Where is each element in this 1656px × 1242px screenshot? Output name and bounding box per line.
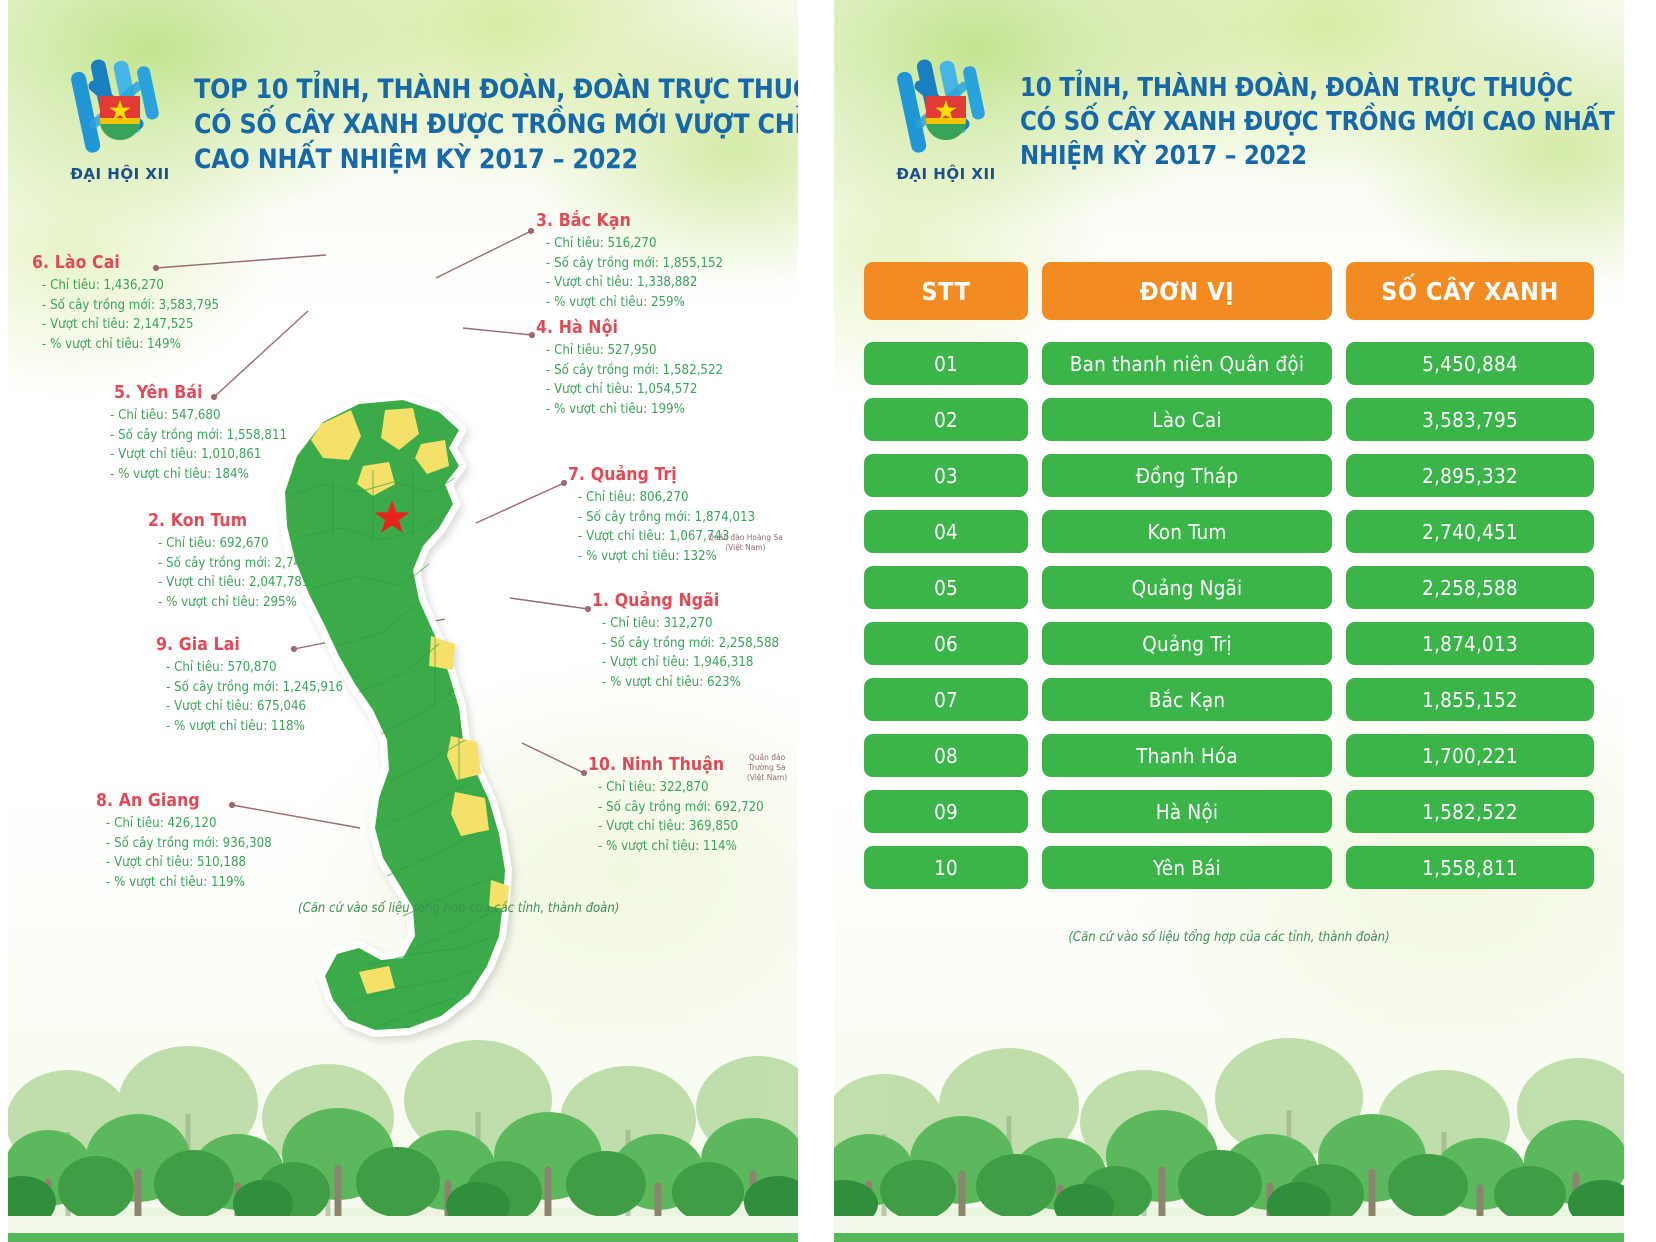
callout-title: 6. Lào Cai [32,253,219,273]
callout-ha-noi[interactable]: 4. Hà Nội - Chỉ tiêu: 527,950 - Số cây t… [536,318,723,419]
callout-exceed: - Vượt chỉ tiêu: 2,047,781 [158,573,335,593]
callout-planted: - Số cây trồng mới: 1,855,152 [546,254,723,274]
callout-target: - Chỉ tiêu: 570,870 [166,658,343,678]
row-trees: 2,895,332 [1346,454,1594,497]
right-title: 10 TỈNH, THÀNH ĐOÀN, ĐOÀN TRỰC THUỘC CÓ … [1020,52,1615,174]
congress-logo-icon [60,52,180,164]
row-unit: Lào Cai [1042,398,1332,441]
callout-exceed: - Vượt chỉ tiêu: 1,054,572 [546,380,723,400]
table-header-stt: STT [864,262,1028,320]
row-stt: 10 [864,846,1028,889]
row-unit: Kon Tum [1042,510,1332,553]
row-unit: Đồng Tháp [1042,454,1332,497]
forest-illustration-right [834,972,1624,1242]
callout-target: - Chỉ tiêu: 312,270 [602,614,779,634]
callout-bac-kan[interactable]: 3. Bắc Kạn - Chỉ tiêu: 516,270 - Số cây … [536,211,723,312]
callout-planted: - Số cây trồng mới: 1,245,916 [166,678,343,698]
left-title-line-3: CAO NHẤT NHIỆM KỲ 2017 – 2022 [194,142,798,177]
right-title-line-2: CÓ SỐ CÂY XANH ĐƯỢC TRỒNG MỚI CAO NHẤT [1020,106,1615,140]
row-stt: 01 [864,342,1028,385]
vietnam-map-area: Quần đảo Hoàng Sa (Việt Nam) Quần đảo Tr… [8,183,798,923]
row-unit: Yên Bái [1042,846,1332,889]
callout-title: 8. An Giang [96,791,272,811]
table-row[interactable]: 07 Bắc Kạn 1,855,152 [864,678,1594,721]
callout-planted: - Số cây trồng mới: 692,720 [598,798,764,818]
callout-exceed: - Vượt chỉ tiêu: 1,946,318 [602,653,779,673]
callout-percent: - % vượt chỉ tiêu: 295% [158,593,335,613]
row-unit: Bắc Kạn [1042,678,1332,721]
callout-title: 7. Quảng Trị [568,465,755,485]
callout-percent: - % vượt chỉ tiêu: 623% [602,673,779,693]
row-stt: 08 [864,734,1028,777]
congress-logo-right: ĐẠI HỘI XII [886,52,1006,183]
callout-planted: - Số cây trồng mới: 1,558,811 [110,426,287,446]
row-stt: 04 [864,510,1028,553]
table-row[interactable]: 05 Quảng Ngãi 2,258,588 [864,566,1594,609]
callout-target: - Chỉ tiêu: 516,270 [546,234,723,254]
row-trees: 1,700,221 [1346,734,1594,777]
callout-planted: - Số cây trồng mới: 2,740,451 [158,554,335,574]
row-trees: 5,450,884 [1346,342,1594,385]
row-stt: 07 [864,678,1028,721]
row-trees: 1,582,522 [1346,790,1594,833]
ground-line [834,1233,1624,1242]
callout-gia-lai[interactable]: 9. Gia Lai - Chỉ tiêu: 570,870 - Số cây … [156,635,343,736]
callout-percent: - % vượt chỉ tiêu: 119% [106,873,272,893]
callout-kon-tum[interactable]: 2. Kon Tum - Chỉ tiêu: 692,670 - Số cây … [148,511,335,612]
callout-planted: - Số cây trồng mới: 2,258,588 [602,634,779,654]
callout-exceed: - Vượt chỉ tiêu: 2,147,525 [42,315,219,335]
logo-caption: ĐẠI HỘI XII [60,165,180,183]
callout-quang-tri[interactable]: 7. Quảng Trị - Chỉ tiêu: 806,270 - Số câ… [568,465,755,566]
table-row[interactable]: 04 Kon Tum 2,740,451 [864,510,1594,553]
callout-target: - Chỉ tiêu: 322,870 [598,778,764,798]
callout-title: 2. Kon Tum [148,511,335,531]
callout-title: 3. Bắc Kạn [536,211,723,231]
callout-yen-bai[interactable]: 5. Yên Bái - Chỉ tiêu: 547,680 - Số cây … [80,383,287,484]
row-stt: 05 [864,566,1028,609]
table-row[interactable]: 10 Yên Bái 1,558,811 [864,846,1594,889]
right-title-line-3: NHIỆM KỲ 2017 – 2022 [1020,140,1615,174]
callout-title: 9. Gia Lai [156,635,343,655]
callout-target: - Chỉ tiêu: 806,270 [578,488,755,508]
row-stt: 02 [864,398,1028,441]
callout-percent: - % vượt chỉ tiêu: 118% [166,717,343,737]
callout-planted: - Số cây trồng mới: 1,582,522 [546,361,723,381]
row-trees: 1,874,013 [1346,622,1594,665]
row-stt: 03 [864,454,1028,497]
callout-an-giang[interactable]: 8. An Giang - Chỉ tiêu: 426,120 - Số cây… [96,791,272,892]
callout-percent: - % vượt chỉ tiêu: 114% [598,837,764,857]
table-row[interactable]: 06 Quảng Trị 1,874,013 [864,622,1594,665]
congress-logo: ĐẠI HỘI XII [60,52,180,183]
logo-caption: ĐẠI HỘI XII [886,165,1006,183]
row-unit: Quảng Trị [1042,622,1332,665]
callout-title: 1. Quảng Ngãi [592,591,779,611]
callout-planted: - Số cây trồng mới: 3,583,795 [42,296,219,316]
callout-exceed: - Vượt chỉ tiêu: 1,010,861 [110,445,287,465]
table-header-row: STT ĐƠN VỊ SỐ CÂY XANH [864,262,1594,320]
callout-exceed: - Vượt chỉ tiêu: 675,046 [166,697,343,717]
right-header: ĐẠI HỘI XII 10 TỈNH, THÀNH ĐOÀN, ĐOÀN TR… [834,0,1624,183]
callout-target: - Chỉ tiêu: 1,436,270 [42,276,219,296]
row-unit: Quảng Ngãi [1042,566,1332,609]
row-unit: Ban thanh niên Quân đội [1042,342,1332,385]
callout-percent: - % vượt chỉ tiêu: 259% [546,293,723,313]
row-trees: 1,558,811 [1346,846,1594,889]
callout-target: - Chỉ tiêu: 547,680 [110,406,287,426]
callout-lao-cai[interactable]: 6. Lào Cai - Chỉ tiêu: 1,436,270 - Số câ… [32,253,219,354]
table-header-unit: ĐƠN VỊ [1042,262,1332,320]
row-stt: 09 [864,790,1028,833]
row-unit: Hà Nội [1042,790,1332,833]
panel-table: ĐẠI HỘI XII 10 TỈNH, THÀNH ĐOÀN, ĐOÀN TR… [834,0,1624,1242]
row-unit: Thanh Hóa [1042,734,1332,777]
callout-exceed: - Vượt chỉ tiêu: 1,338,882 [546,273,723,293]
ground-line [8,1233,798,1242]
row-trees: 1,855,152 [1346,678,1594,721]
table-row[interactable]: 09 Hà Nội 1,582,522 [864,790,1594,833]
right-source-note: (Căn cứ vào số liệu tổng hợp của các tỉn… [864,930,1594,945]
ranking-table: STT ĐƠN VỊ SỐ CÂY XANH 01 Ban thanh niên… [864,262,1594,902]
callout-ninh-thuan[interactable]: 10. Ninh Thuận - Chỉ tiêu: 322,870 - Số … [588,755,764,856]
row-stt: 06 [864,622,1028,665]
forest-illustration-left [8,972,798,1242]
row-trees: 3,583,795 [1346,398,1594,441]
table-row[interactable]: 03 Đồng Tháp 2,895,332 [864,454,1594,497]
left-title: TOP 10 TỈNH, THÀNH ĐOÀN, ĐOÀN TRỰC THUỘC… [194,52,798,178]
left-title-line-1: TOP 10 TỈNH, THÀNH ĐOÀN, ĐOÀN TRỰC THUỘC [194,72,798,107]
callout-planted: - Số cây trồng mới: 1,874,013 [578,508,755,528]
table-header-trees: SỐ CÂY XANH [1346,262,1594,320]
left-title-line-2: CÓ SỐ CÂY XANH ĐƯỢC TRỒNG MỚI VƯỢT CHỈ T… [194,107,798,142]
row-trees: 2,740,451 [1346,510,1594,553]
panel-map: ĐẠI HỘI XII TOP 10 TỈNH, THÀNH ĐOÀN, ĐOÀ… [8,0,798,1242]
right-title-line-1: 10 TỈNH, THÀNH ĐOÀN, ĐOÀN TRỰC THUỘC [1020,72,1615,106]
callout-target: - Chỉ tiêu: 692,670 [158,534,335,554]
callout-exceed: - Vượt chỉ tiêu: 369,850 [598,817,764,837]
left-source-note: (Căn cứ vào số liệu tổng hợp của các tỉn… [298,901,619,916]
congress-logo-icon [886,52,1006,164]
table-row[interactable]: 08 Thanh Hóa 1,700,221 [864,734,1594,777]
row-trees: 2,258,588 [1346,566,1594,609]
callout-title: 5. Yên Bái [80,383,287,403]
callout-percent: - % vượt chỉ tiêu: 149% [42,335,219,355]
callout-title: 4. Hà Nội [536,318,723,338]
infographic-canvas: ĐẠI HỘI XII TOP 10 TỈNH, THÀNH ĐOÀN, ĐOÀ… [0,0,1656,1242]
callout-title: 10. Ninh Thuận [588,755,764,775]
callout-percent: - % vượt chỉ tiêu: 132% [578,547,755,567]
callout-quang-ngai[interactable]: 1. Quảng Ngãi - Chỉ tiêu: 312,270 - Số c… [592,591,779,692]
callout-exceed: - Vượt chỉ tiêu: 1,067,743 [578,527,755,547]
callout-target: - Chỉ tiêu: 426,120 [106,814,272,834]
left-header: ĐẠI HỘI XII TOP 10 TỈNH, THÀNH ĐOÀN, ĐOÀ… [8,0,798,183]
callout-percent: - % vượt chỉ tiêu: 199% [546,400,723,420]
table-row[interactable]: 01 Ban thanh niên Quân đội 5,450,884 [864,342,1594,385]
table-row[interactable]: 02 Lào Cai 3,583,795 [864,398,1594,441]
callout-target: - Chỉ tiêu: 527,950 [546,341,723,361]
callout-planted: - Số cây trồng mới: 936,308 [106,834,272,854]
callout-percent: - % vượt chỉ tiêu: 184% [110,465,287,485]
callout-exceed: - Vượt chỉ tiêu: 510,188 [106,853,272,873]
